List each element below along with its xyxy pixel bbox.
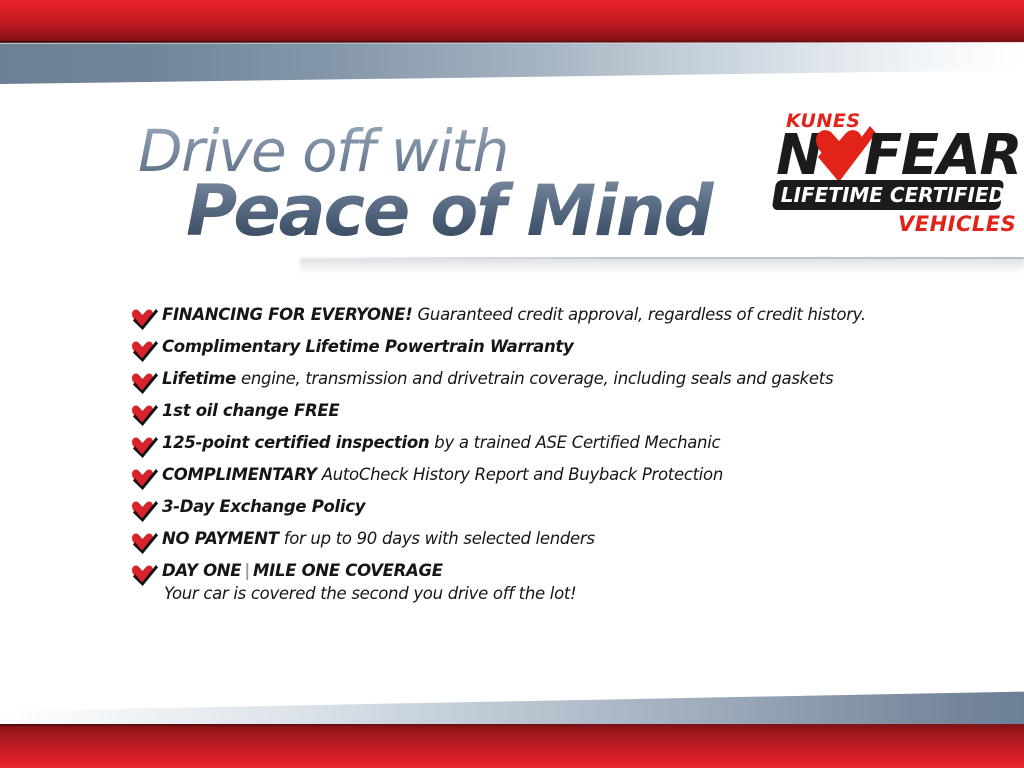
header-divider-shadow	[300, 258, 1024, 274]
headline-line-2: Peace of Mind	[186, 176, 758, 247]
logo-word-fear: FEAR	[864, 128, 1021, 184]
heart-check-bullet-icon	[130, 436, 158, 458]
bottom-red-stripe-edge	[0, 724, 1024, 726]
benefit-item-day-one-mile-one: DAY ONE|MILE ONE COVERAGEYour car is cov…	[130, 562, 930, 616]
benefit-item-no-payment: NO PAYMENT for up to 90 days with select…	[130, 530, 930, 562]
benefit-item-oil-change: 1st oil change FREE	[130, 402, 930, 434]
benefit-text: NO PAYMENT for up to 90 days with select…	[162, 530, 930, 549]
bottom-gray-stripe	[0, 688, 1024, 724]
top-gray-stripe-highlight	[0, 43, 1024, 44]
top-banner	[0, 0, 1024, 84]
heart-check-bullet-icon	[130, 372, 158, 394]
benefit-subtext: Your car is covered the second you drive…	[164, 583, 930, 604]
kunes-no-fear-logo: KUNES N FEAR LIFETIME CERTIFIED VEHICLES	[770, 108, 1010, 248]
heart-check-bullet-icon	[130, 500, 158, 522]
bottom-banner	[0, 688, 1024, 768]
benefit-text: Complimentary Lifetime Powertrain Warran…	[162, 338, 930, 357]
benefit-item-powertrain-warranty: Complimentary Lifetime Powertrain Warran…	[130, 338, 930, 370]
ad-poster: Drive off with Peace of Mind KUNES N FEA…	[0, 0, 1024, 768]
logo-certified-label: LIFETIME CERTIFIED	[782, 182, 1004, 208]
benefit-item-lifetime-coverage: Lifetime engine, transmission and drivet…	[130, 370, 930, 402]
headline-block: Drive off with Peace of Mind	[138, 122, 758, 247]
benefit-text: FINANCING FOR EVERYONE! Guaranteed credi…	[162, 306, 930, 325]
heart-check-bullet-icon	[130, 564, 158, 586]
benefit-item-financing: FINANCING FOR EVERYONE! Guaranteed credi…	[130, 306, 930, 338]
top-gray-stripe	[0, 43, 1024, 84]
logo-word-vehicles: VEHICLES	[898, 214, 1016, 235]
benefit-text: 3-Day Exchange Policy	[162, 498, 930, 517]
heart-check-bullet-icon	[130, 340, 158, 362]
top-gray-stripe-wrap	[0, 43, 1024, 84]
benefit-text: 1st oil change FREE	[162, 402, 930, 421]
bottom-red-stripe	[0, 724, 1024, 768]
top-red-stripe	[0, 0, 1024, 42]
benefit-item-inspection: 125-point certified inspection by a trai…	[130, 434, 930, 466]
benefit-separator: |	[241, 561, 253, 580]
benefit-item-exchange-policy: 3-Day Exchange Policy	[130, 498, 930, 530]
benefits-list: FINANCING FOR EVERYONE! Guaranteed credi…	[130, 306, 930, 616]
heart-check-bullet-icon	[130, 308, 158, 330]
benefit-item-autocheck: COMPLIMENTARY AutoCheck History Report a…	[130, 466, 930, 498]
benefit-text: DAY ONE|MILE ONE COVERAGEYour car is cov…	[162, 562, 930, 604]
benefit-text: Lifetime engine, transmission and drivet…	[162, 370, 930, 389]
heart-check-bullet-icon	[130, 532, 158, 554]
benefit-text: COMPLIMENTARY AutoCheck History Report a…	[162, 466, 930, 485]
heart-check-bullet-icon	[130, 468, 158, 490]
logo-no-fear-wordmark: N FEAR	[774, 128, 1010, 186]
benefit-text: 125-point certified inspection by a trai…	[162, 434, 930, 453]
heart-check-bullet-icon	[130, 404, 158, 426]
bottom-gray-stripe-wrap	[0, 688, 1024, 724]
